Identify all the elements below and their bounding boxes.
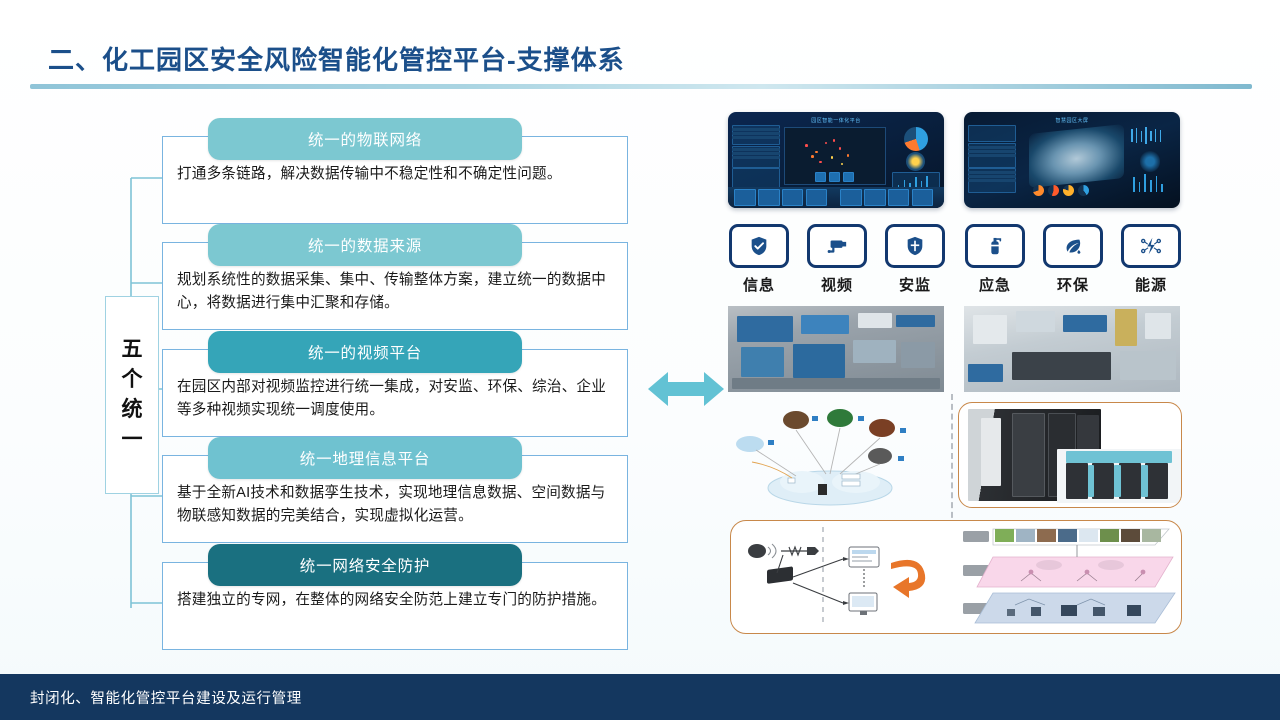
slide-header: 二、化工园区安全风险智能化管控平台-支撑体系 (0, 18, 1280, 78)
energy-network-icon (1121, 224, 1181, 268)
hub-char-1: 五 (122, 335, 143, 365)
domain-icon-cell-video[interactable]: 视频 (806, 224, 868, 295)
footer-text: 封闭化、智能化管控平台建设及运行管理 (30, 687, 302, 708)
dashboard-1-left-widgets (732, 125, 780, 192)
plant-3d-photo-warehouse-area (964, 306, 1180, 392)
slide-footer: 封闭化、智能化管控平台建设及运行管理 (0, 674, 1280, 720)
item-1-header-label: 统一的物联网络 (308, 128, 422, 150)
item-4-header-label: 统一地理信息平台 (300, 447, 430, 469)
domain-icon-label-video: 视频 (806, 274, 868, 295)
domain-icon-cell-energy[interactable]: 能源 (1120, 224, 1182, 295)
dashboard-1-control-desks (728, 187, 944, 208)
double-arrow-icon (648, 366, 724, 412)
domain-icon-cell-safety[interactable]: 安监 (884, 224, 946, 295)
item-5-text: 搭建独立的专网，在整体的网络安全防范上建立专门的防护措施。 (177, 589, 613, 612)
data-center-server-room-card (958, 402, 1182, 508)
domain-icon-cell-information[interactable]: 信息 (728, 224, 790, 295)
item-1-header[interactable]: 统一的物联网络 (208, 118, 522, 160)
hub-char-3: 统 (122, 395, 143, 425)
dashboard-2-caption: 智慧园区大屏 (964, 117, 1180, 124)
domain-icon-label-emergency: 应急 (964, 274, 1026, 295)
dashboard-2-3d-city-model (1029, 124, 1124, 188)
domain-icon-label-information: 信息 (728, 274, 790, 295)
domain-icon-cell-emergency[interactable]: 应急 (964, 224, 1026, 295)
dashboard-2-left-widgets (968, 125, 1016, 192)
leaf-water-drop-icon (1043, 224, 1103, 268)
item-4-header[interactable]: 统一地理信息平台 (208, 437, 522, 479)
item-5-header[interactable]: 统一网络安全防护 (208, 544, 522, 586)
hub-char-4: 一 (122, 425, 143, 455)
plant-3d-photo-row (728, 306, 1180, 392)
network-security-architecture-card (730, 520, 1182, 634)
dashboard-image-park-platform: 园区智能一体化平台 (728, 112, 944, 208)
page-title: 二、化工园区安全风险智能化管控平台-支撑体系 (48, 40, 625, 77)
reference-imagery-panel: 园区智能一体化平台 (722, 112, 1184, 652)
item-5-header-label: 统一网络安全防护 (300, 554, 430, 576)
item-3-header-label: 统一的视频平台 (308, 341, 422, 363)
dashboard-2-gauges (1033, 185, 1089, 196)
cctv-camera-icon (807, 224, 867, 268)
dashboard-1-map (784, 127, 885, 185)
dashboard-1-caption: 园区智能一体化平台 (728, 117, 944, 124)
item-2-text: 规划系统性的数据采集、集中、传输整体方案，建立统一的数据中心，将数据进行集中汇聚… (177, 269, 613, 314)
security-topology-diagram (731, 521, 1181, 633)
item-2-header[interactable]: 统一的数据来源 (208, 224, 522, 266)
hub-char-2: 个 (122, 365, 143, 395)
plant-3d-photo-chemical-units (728, 306, 944, 392)
hub-label-five-unifications: 五 个 统 一 (105, 296, 159, 494)
dashboard-2-right-widgets (1128, 125, 1176, 192)
title-underline-rule (30, 84, 1252, 89)
domain-icon-label-safety: 安监 (884, 274, 946, 295)
item-3-header[interactable]: 统一的视频平台 (208, 331, 522, 373)
item-1-text: 打通多条链路，解决数据传输中不稳定性和不确定性问题。 (177, 163, 613, 186)
domain-icon-label-environment: 环保 (1042, 274, 1104, 295)
domain-icon-row: 信息 视频 安监 应急 (722, 224, 1184, 300)
domain-icon-label-energy: 能源 (1120, 274, 1182, 295)
dashboard-image-smart-park: 智慧园区大屏 (964, 112, 1180, 208)
item-4-text: 基于全新AI技术和数据孪生技术，实现地理信息数据、空间数据与物联感知数据的完美结… (177, 482, 613, 527)
domain-icon-cell-environment[interactable]: 环保 (1042, 224, 1104, 295)
shield-icon (885, 224, 945, 268)
five-unifications-diagram: 五 个 统 一 打通多条链路，解决数据传输中不稳定性和不确定性问题。 统一的物联… (100, 108, 660, 658)
dashboard-screenshot-row: 园区智能一体化平台 (728, 112, 1180, 216)
dashboard-1-right-widgets (892, 125, 940, 192)
slide-root: 二、化工园区安全风险智能化管控平台-支撑体系 五 个 统 一 (0, 0, 1280, 720)
fire-extinguisher-icon (965, 224, 1025, 268)
gis-network-topology-diagram (730, 404, 930, 508)
shield-check-icon (729, 224, 789, 268)
item-3-text: 在园区内部对视频监控进行统一集成，对安监、环保、综治、企业等多种视频实现统一调度… (177, 376, 613, 421)
item-2-header-label: 统一的数据来源 (308, 234, 422, 256)
